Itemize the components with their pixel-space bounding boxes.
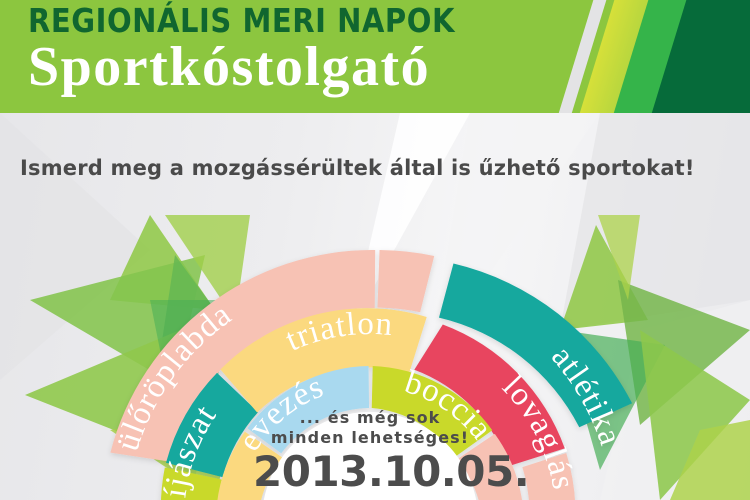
hub-note-line-1: ... és még sok	[253, 408, 487, 428]
event-date: 2013.10.05.	[253, 447, 487, 496]
poster-canvas: REGIONÁLIS MERI NAPOK Sportkóstolgató Is…	[0, 0, 750, 500]
poster-tagline: Ismerd meg a mozgássérültek által is űzh…	[20, 156, 734, 180]
event-series-title: REGIONÁLIS MERI NAPOK	[28, 4, 455, 37]
hub-note-line-2: minden lehetséges!	[253, 428, 487, 448]
wheel-hub-note: ... és még sok minden lehetséges!	[253, 408, 487, 447]
header-text-block: REGIONÁLIS MERI NAPOK Sportkóstolgató	[28, 4, 513, 96]
event-main-title: Sportkóstolgató	[28, 39, 513, 96]
segment-outer-gap-pink[interactable]	[377, 250, 434, 312]
